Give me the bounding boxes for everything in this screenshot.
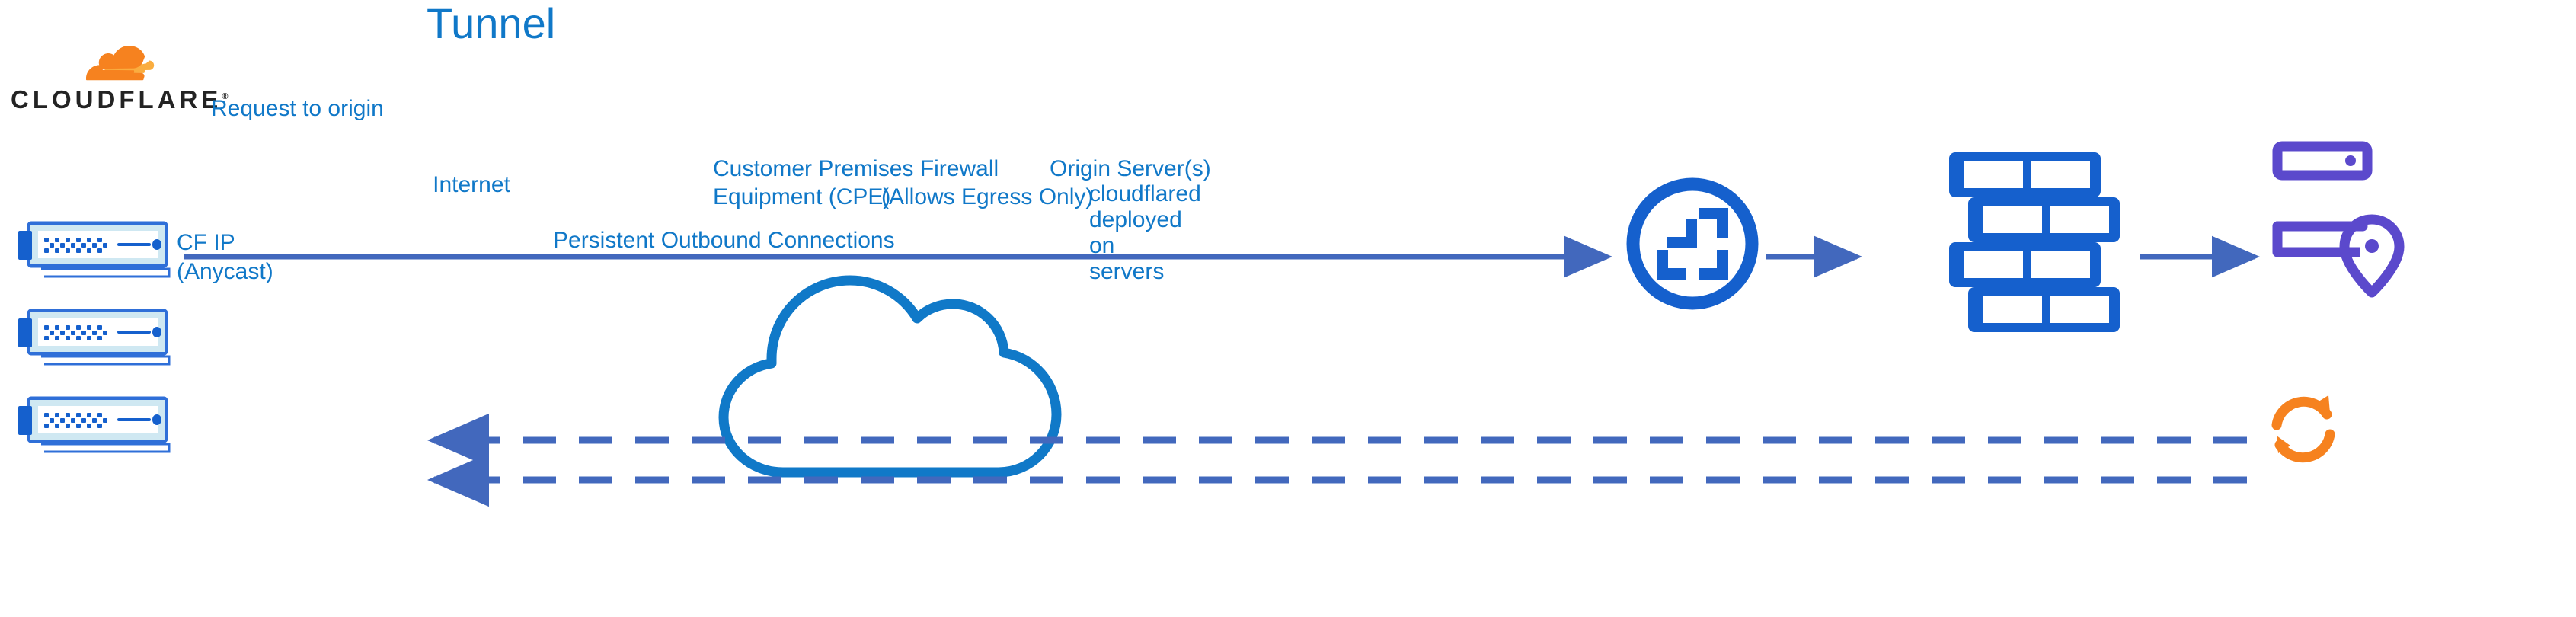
firewall-label-line-2: (Allows Egress Only) [881, 183, 1037, 211]
server-rack-icon [11, 305, 171, 369]
cloudflared-line-2: deployed on [1089, 207, 1181, 259]
cf-ip-line-1: CF IP [177, 229, 314, 257]
server-rack-unit-1 [11, 217, 171, 281]
cloudflare-wordmark: CLOUDFLARE® [11, 85, 228, 114]
node-label-cpe: Customer Premises Equipment (CPE) [713, 155, 865, 211]
cpe-label-line-2: Equipment (CPE) [713, 183, 865, 211]
server-rack-icon [11, 217, 171, 281]
edge-label-request-to-origin: Request to origin [211, 94, 384, 123]
cloudflare-brand: CLOUDFLARE® [6, 46, 181, 122]
node-label-firewall: Firewall (Allows Egress Only) [881, 155, 1037, 211]
firewall-label-line-1: Firewall [881, 155, 1037, 183]
internet-cloud-icon [724, 280, 1056, 472]
cloudflare-logo-icon [86, 46, 162, 84]
server-rack-icon [11, 392, 171, 456]
cloudflared-line-1: cloudflared [1089, 181, 1181, 207]
cpe-label-line-1: Customer Premises [713, 155, 865, 183]
cf-ip-line-2: (Anycast) [177, 257, 314, 286]
server-rack-unit-3 [11, 392, 171, 456]
diagram-vector-layer [0, 0, 2576, 617]
router-converge-arrows-icon [1633, 184, 1752, 303]
server-with-location-pin-icon [2277, 146, 2399, 293]
edge-label-persistent-outbound: Persistent Outbound Connections [553, 226, 895, 254]
brick-wall-icon [1949, 152, 2120, 332]
refresh-sync-icon [2277, 395, 2330, 458]
server-rack-unit-2 [11, 305, 171, 369]
annotation-cloudflared: cloudflared deployed on servers [1089, 181, 1181, 285]
node-label-internet: Internet [397, 171, 546, 199]
edge-label-cf-ip: CF IP (Anycast) [177, 229, 314, 286]
cloudflared-line-3: servers [1089, 259, 1181, 285]
node-label-origin-servers: Origin Server(s) [1050, 155, 1194, 183]
page-title: Tunnel [427, 0, 555, 48]
tunnel-diagram-canvas: Tunnel CLOUDFLARE® [0, 0, 2576, 617]
